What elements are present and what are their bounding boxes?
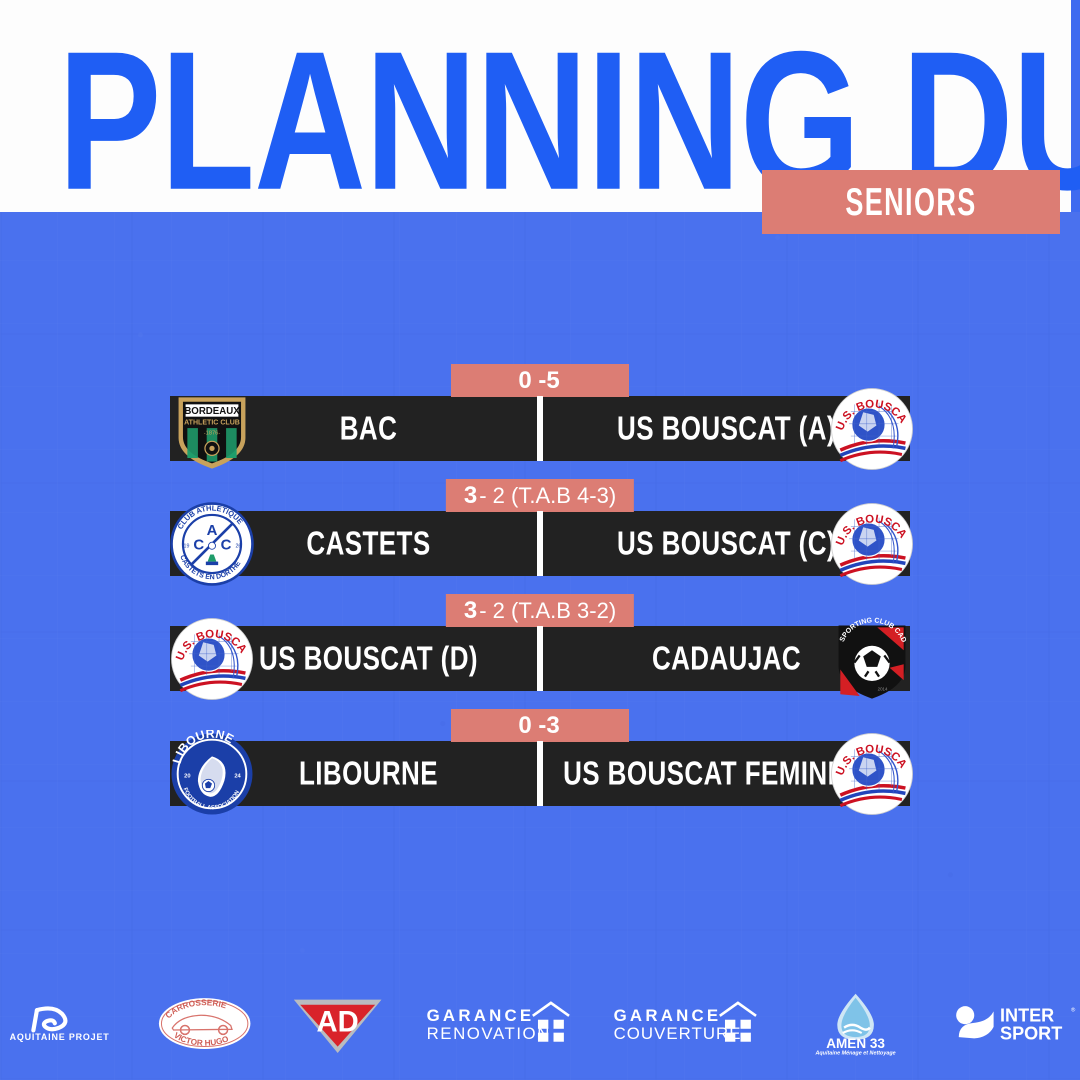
svg-text:C: C <box>193 536 204 553</box>
svg-text:2014: 2014 <box>878 687 888 692</box>
svg-text:COUVERTURE: COUVERTURE <box>613 1024 741 1043</box>
match-row: 3 - 2 (T.A.B 4-3) CASTETS US BOUSCAT (C)… <box>0 479 1080 594</box>
castets-en-dorthe-crest-icon: A C C 19 26 CLUB ATHLETIQUE CASTETS EN D… <box>168 500 256 588</box>
svg-text:GARANCE: GARANCE <box>426 1006 534 1025</box>
svg-text:A: A <box>207 522 218 539</box>
svg-text:AMEN 33: AMEN 33 <box>826 1036 885 1051</box>
svg-text:SPORT: SPORT <box>1000 1024 1062 1044</box>
sponsor-intersport-logo: INTER SPORT ® <box>951 993 1080 1055</box>
us-bouscat-crest-icon: U.S. BOUSCAT <box>828 385 916 473</box>
sponsor-strip: AQUITAINE PROJET CARROSSERIE VICTOR HUGO <box>0 990 1080 1058</box>
sponsor-garance-renovation-logo: GARANCE RENOVATION <box>424 993 573 1055</box>
svg-text:RENOVATION: RENOVATION <box>426 1024 550 1043</box>
svg-text:®: ® <box>1071 1007 1076 1014</box>
match-row: 0 - 5 BAC US BOUSCAT (A) BORDEAUX ATHLET… <box>0 364 1080 479</box>
sponsor-ad-logo: AD <box>290 993 385 1055</box>
match-row: 0 - 3 LIBOURNE US BOUSCAT FEMININES 20 2… <box>0 709 1080 824</box>
sponsor-carrosserie-victor-hugo-logo: CARROSSERIE VICTOR HUGO <box>157 993 252 1055</box>
svg-text:BORDEAUX: BORDEAUX <box>184 406 240 417</box>
sponsor-garance-couverture-logo: GARANCE COUVERTURE <box>611 993 760 1055</box>
us-bouscat-crest-icon: U.S. BOUSCAT <box>828 730 916 818</box>
match-row: 3 - 2 (T.A.B 3-2) US BOUSCAT (D) CADAUJA… <box>0 594 1080 709</box>
svg-text:C: C <box>221 536 232 553</box>
match-list: 0 - 5 BAC US BOUSCAT (A) BORDEAUX ATHLET… <box>0 364 1080 824</box>
category-badge: SENIORS <box>762 170 1060 234</box>
svg-text:Aquitaine Ménage et Nettoyage: Aquitaine Ménage et Nettoyage <box>814 1051 895 1056</box>
svg-text:ATHLETIC CLUB: ATHLETIC CLUB <box>184 420 240 427</box>
svg-text:20: 20 <box>184 774 190 780</box>
svg-text:INTER: INTER <box>1000 1006 1054 1026</box>
svg-text:24: 24 <box>234 774 241 780</box>
svg-text:AD: AD <box>317 1007 359 1039</box>
svg-text:AQUITAINE PROJET: AQUITAINE PROJET <box>10 1032 110 1042</box>
us-bouscat-crest-icon: U.S. BOUSCAT <box>828 500 916 588</box>
category-badge-label: SENIORS <box>845 180 976 225</box>
us-bouscat-crest-icon: U.S. BOUSCAT <box>168 615 256 703</box>
libourne-football-association-crest-icon: 20 24 LIBOURNE FOOTBALL ASSOCIATION <box>168 730 256 818</box>
sponsor-amen-33-logo: AMEN 33 Aquitaine Ménage et Nettoyage <box>798 993 913 1055</box>
svg-text:26: 26 <box>235 544 241 550</box>
sporting-club-cadaujac-crest-icon: SPORTING CLUB CADAUJAC 2014 <box>828 615 916 703</box>
weekend-planning-poster: PLANNING DU WEEK-END SENIORS 0 - 5 BAC U… <box>0 0 1080 1080</box>
bordeaux-athletic-club-crest-icon: BORDEAUX ATHLETIC CLUB -1876- <box>168 385 256 473</box>
svg-text:GARANCE: GARANCE <box>613 1006 721 1025</box>
sponsor-aquitaine-projet-logo: AQUITAINE PROJET <box>0 993 119 1055</box>
svg-text:19: 19 <box>184 544 190 550</box>
svg-text:-1876-: -1876- <box>204 430 221 436</box>
